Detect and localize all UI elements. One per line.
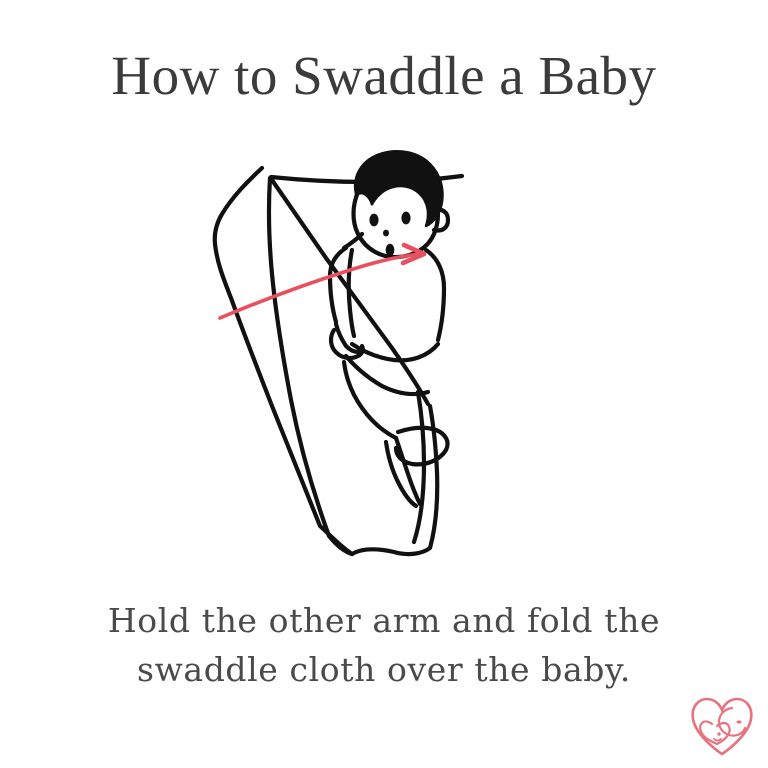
mouth: [386, 244, 395, 256]
heart-outline: [693, 699, 752, 754]
baby-face: [369, 212, 410, 257]
caption-line-2: swaddle cloth over the baby.: [0, 645, 768, 694]
right-eye: [401, 212, 410, 225]
swaddle-illustration: [0, 130, 768, 580]
page-title: How to Swaddle a Baby: [0, 44, 768, 108]
hair-shape: [355, 151, 442, 226]
nose: [383, 230, 389, 237]
mother-and-baby-heart-logo: [688, 694, 756, 760]
baby-smile: [714, 739, 721, 741]
baby-figure: [330, 192, 448, 506]
left-eye: [369, 214, 378, 227]
swaddle-infographic-page: How to Swaddle a Baby: [0, 0, 768, 768]
caption-line-1: Hold the other arm and fold the: [0, 596, 768, 645]
arrow-shaft: [220, 254, 420, 318]
baby-eye: [717, 732, 720, 735]
mother-eye: [736, 720, 741, 723]
baby-hair: [355, 151, 442, 226]
caption-text: Hold the other arm and fold the swaddle …: [0, 596, 768, 694]
